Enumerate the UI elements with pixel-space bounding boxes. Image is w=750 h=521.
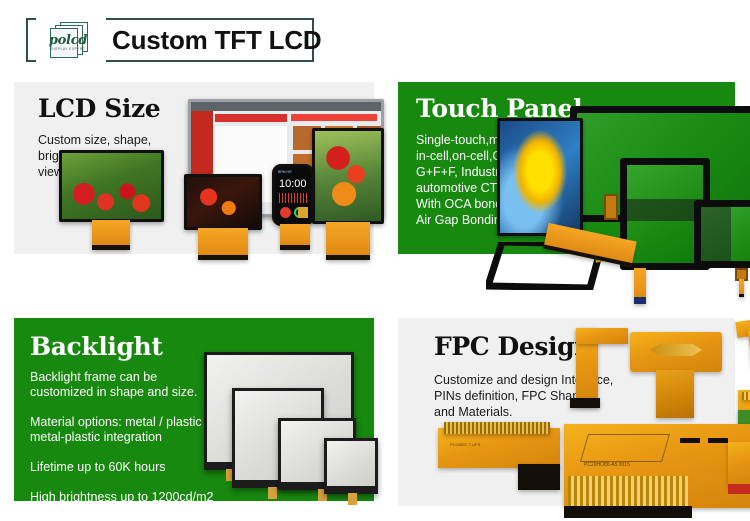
panel-title: Backlight [30,332,162,361]
panel-body: Customize and design Interface, PINs def… [434,372,634,420]
panel-body: Backlight frame can be customized in sha… [30,370,235,505]
fpc-wide-pads [742,392,750,400]
logo-wordmark: polcd [40,33,96,48]
panel-body: Custom size, shape, brightness, IPS full… [38,132,213,180]
panel-title: LCD Size [38,94,160,123]
poster-canvas: polcd DISPLAY EXPERT Custom TFT LCD LCD … [0,0,750,521]
logo-tagline: DISPLAY EXPERT [40,47,96,51]
fpc-main-board-blackbar [564,506,692,518]
small-ctp-connector [735,268,748,281]
fpc-wide [738,390,750,440]
medium-ctp-fpc [634,268,646,304]
panel-title: FPC Design [434,332,592,361]
panel-fpc-design: FPC Design Customize and design Interfac… [398,318,735,506]
small-ctp-fpc [739,279,744,297]
bee-lcd-module [497,118,583,236]
panel-backlight: Backlight Backlight frame can be customi… [14,318,374,501]
fpc-wide-connector [738,410,750,426]
panel-lcd-size: LCD Size Custom size, shape, brightness,… [14,82,374,254]
page-title: Custom TFT LCD [112,25,322,56]
bee-lcd-glass [500,121,580,233]
page-header: polcd DISPLAY EXPERT Custom TFT LCD [26,18,314,62]
polcd-logo: polcd DISPLAY EXPERT [38,22,100,58]
fpc-curved [735,314,750,338]
